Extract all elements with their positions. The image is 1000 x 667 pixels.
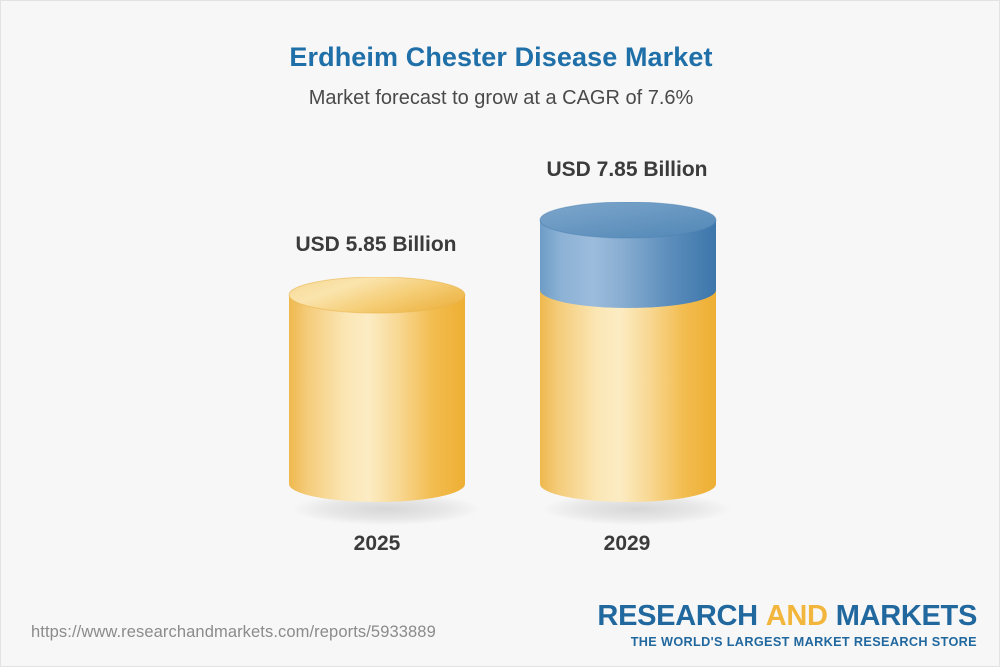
report-url[interactable]: https://www.researchandmarkets.com/repor… bbox=[31, 623, 436, 642]
bar-category-label-2029: 2029 bbox=[467, 532, 787, 556]
bar-value-label-2025: USD 5.85 Billion bbox=[216, 233, 536, 257]
logo-word-research: RESEARCH bbox=[597, 600, 757, 632]
logo-word-markets: MARKETS bbox=[836, 600, 977, 632]
logo-tagline: THE WORLD'S LARGEST MARKET RESEARCH STOR… bbox=[597, 631, 977, 650]
bar-cylinder-2029 bbox=[538, 202, 718, 517]
bar-cylinder-2025 bbox=[287, 277, 467, 517]
bar-value-label-2029: USD 7.85 Billion bbox=[467, 158, 787, 182]
logo-wordmark: RESEARCHANDMARKETS bbox=[597, 601, 977, 631]
brand-logo[interactable]: RESEARCHANDMARKETS THE WORLD'S LARGEST M… bbox=[597, 601, 977, 651]
logo-word-and: AND bbox=[758, 600, 836, 632]
plot-area: USD 5.85 Billion bbox=[1, 1, 1000, 667]
chart-canvas: Erdheim Chester Disease Market Market fo… bbox=[0, 0, 1000, 667]
